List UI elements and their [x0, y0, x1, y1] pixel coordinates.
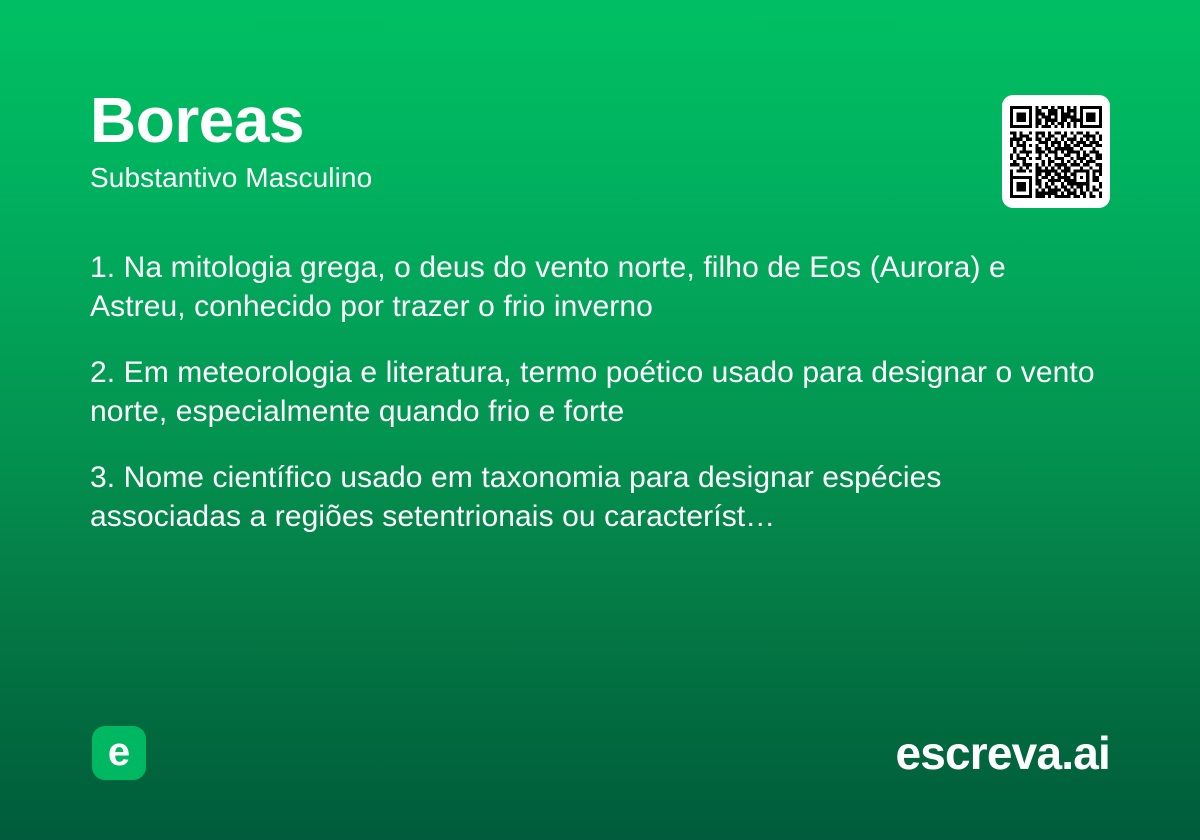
page-title: Boreas [90, 88, 1110, 152]
brand-logo: e [92, 726, 146, 780]
card-footer: e escreva.ai [92, 726, 1110, 780]
list-item: 2. Em meteorologia e literatura, termo p… [90, 353, 1100, 431]
qr-code-card[interactable] [1002, 95, 1110, 208]
qr-code-icon [1010, 106, 1102, 198]
brand-logo-letter: e [108, 732, 130, 772]
brand-wordmark: escreva.ai [895, 730, 1110, 776]
card-header: Boreas Substantivo Masculino [90, 88, 1110, 194]
list-item: 3. Nome científico usado em taxonomia pa… [90, 458, 1100, 536]
definition-list: 1. Na mitologia grega, o deus do vento n… [90, 248, 1100, 536]
list-item: 1. Na mitologia grega, o deus do vento n… [90, 248, 1100, 326]
word-definition-card: Boreas Substantivo Masculino [0, 0, 1200, 840]
word-class-label: Substantivo Masculino [90, 162, 1110, 194]
